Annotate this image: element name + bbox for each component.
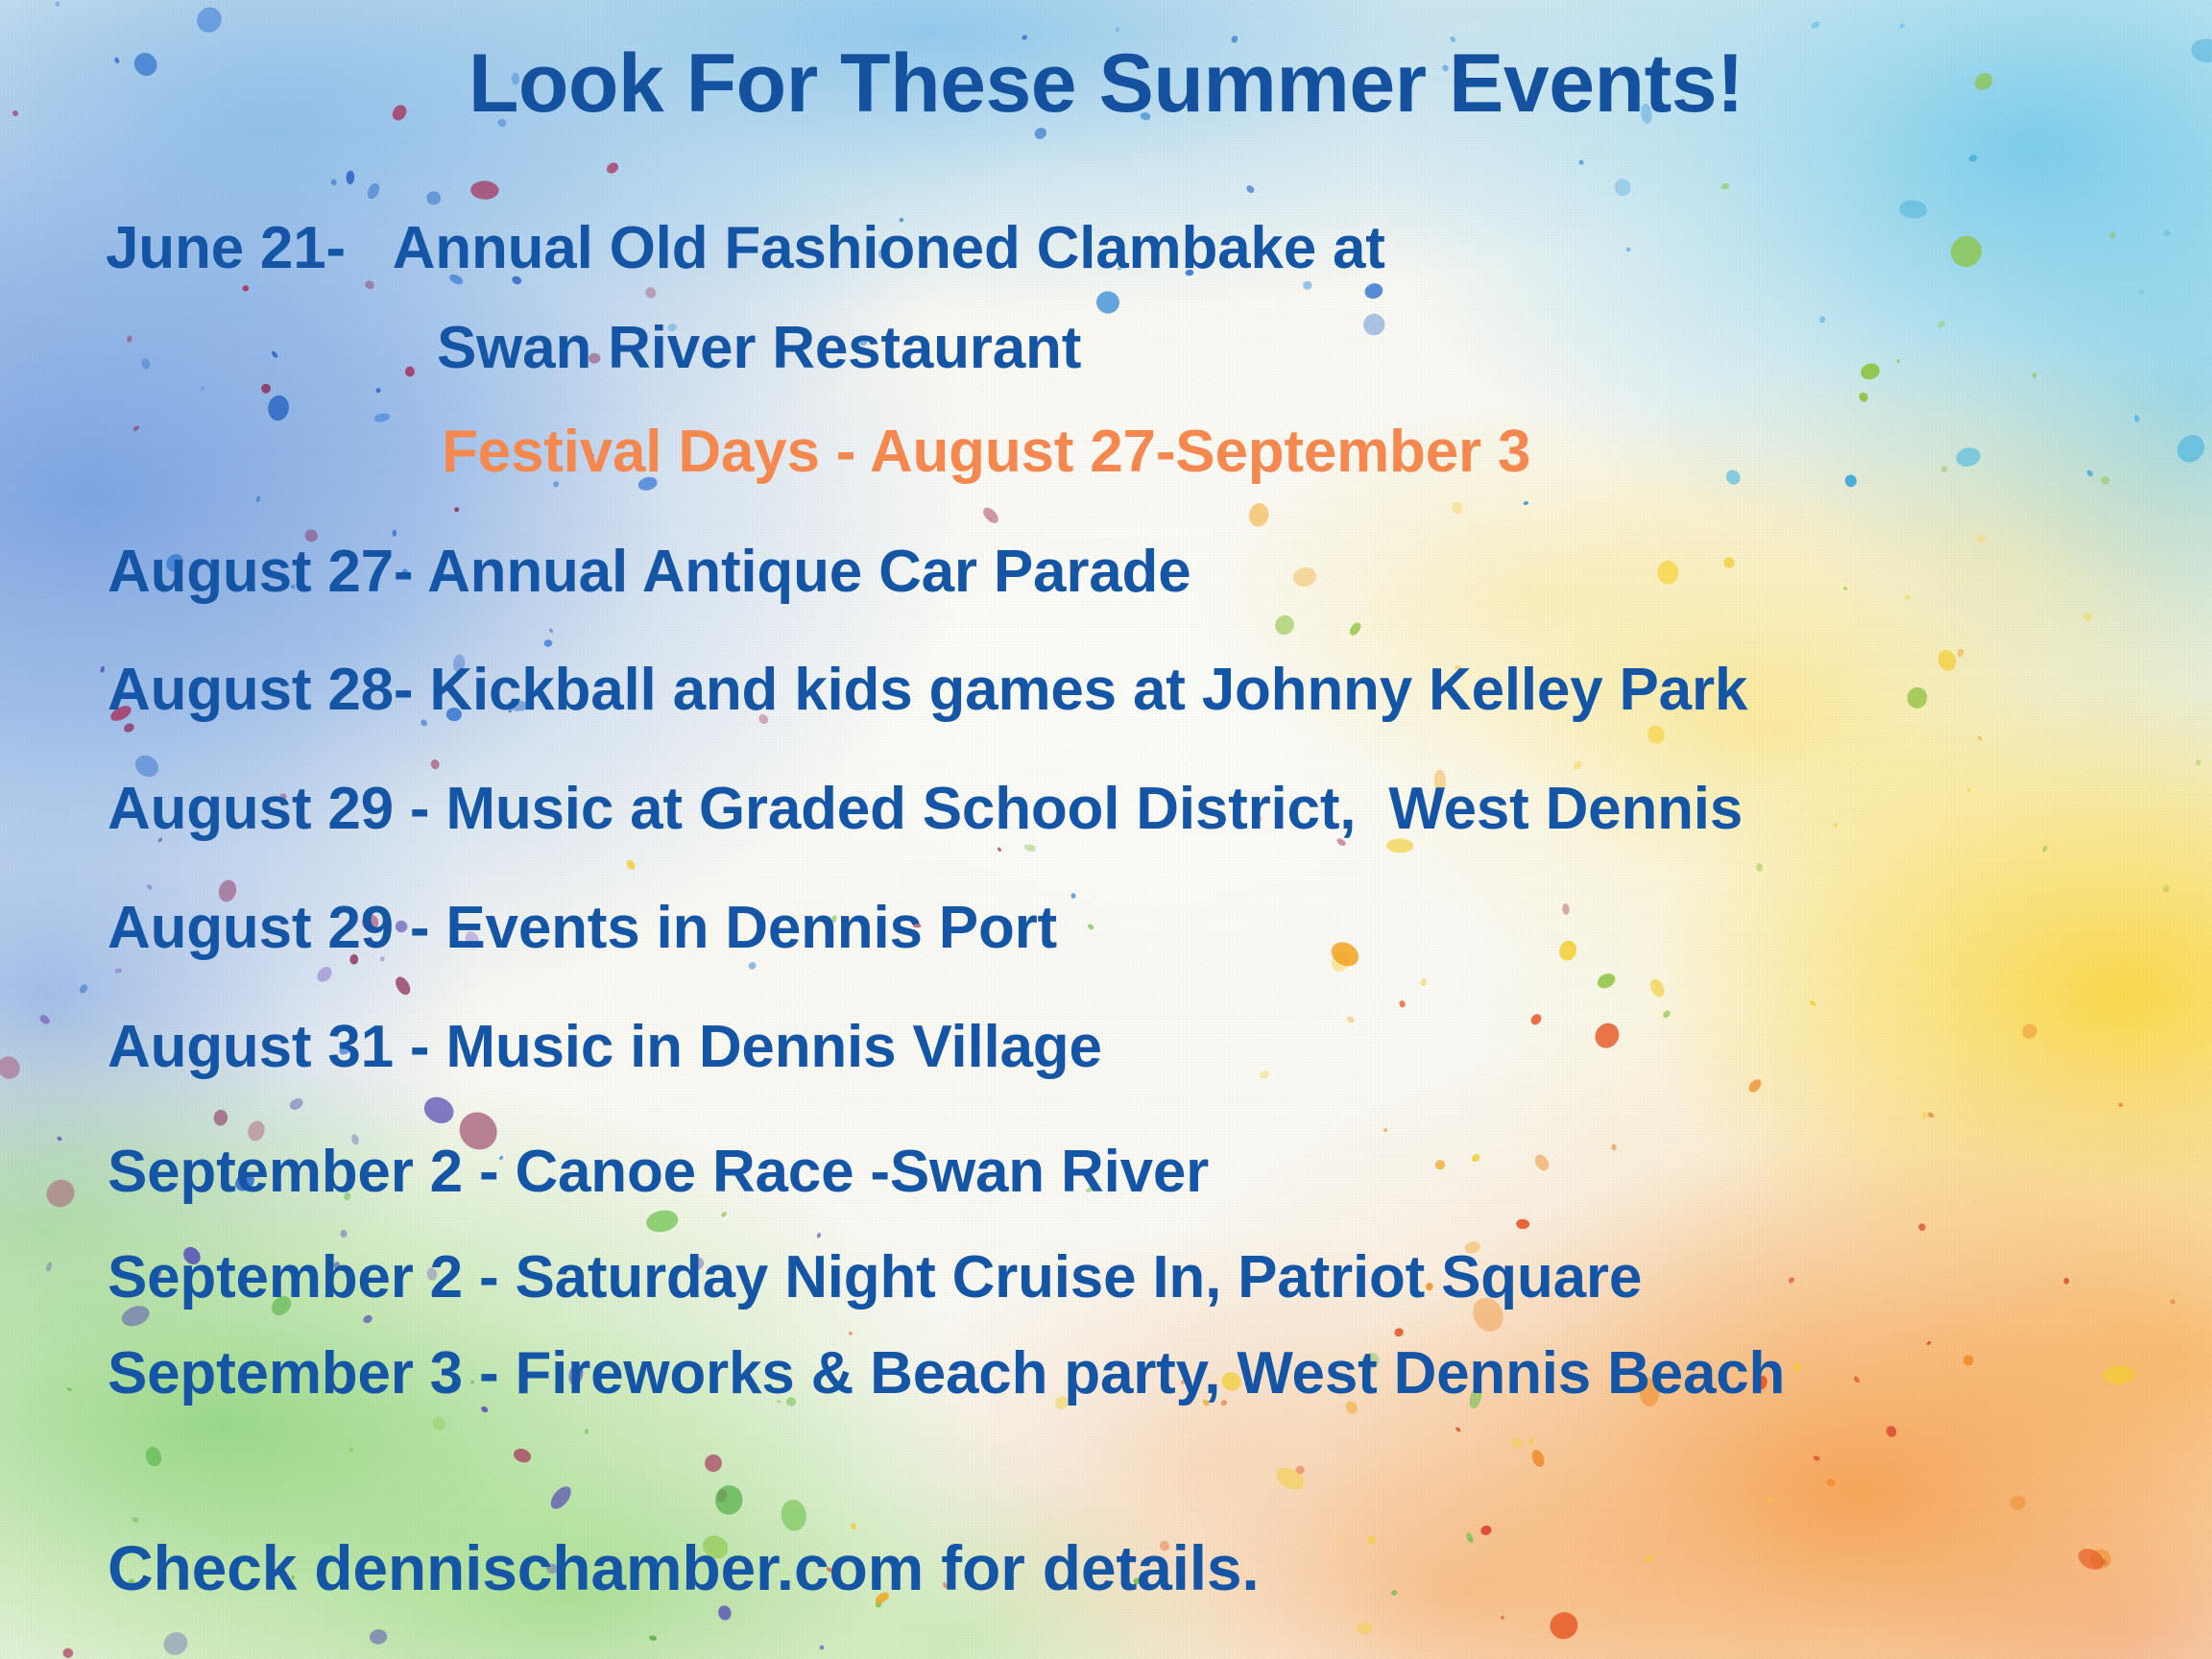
event-line-september-2-cruise: September 2 - Saturday Night Cruise In, … bbox=[108, 1248, 1642, 1308]
event-line-september-2-canoe: September 2 - Canoe Race -Swan River bbox=[108, 1142, 1209, 1202]
event-line-swan-river: Swan River Restaurant bbox=[437, 319, 1081, 378]
event-line-september-3: September 3 - Fireworks & Beach party, W… bbox=[108, 1344, 1785, 1404]
event-line-festival-days: Festival Days - August 27-September 3 bbox=[442, 422, 1530, 482]
event-line-august-28: August 28- Kickball and kids games at Jo… bbox=[108, 661, 1747, 720]
event-line-august-29-dennis-port: August 29 - Events in Dennis Port bbox=[108, 899, 1057, 958]
page-title: Look For These Summer Events! bbox=[0, 42, 2212, 125]
footer-website-note: Check dennischamber.com for details. bbox=[108, 1536, 1260, 1599]
event-line-august-31: August 31 - Music in Dennis Village bbox=[108, 1018, 1102, 1077]
summer-events-poster: Look For These Summer Events! June 21- A… bbox=[0, 0, 2212, 1659]
event-line-august-27: August 27- Annual Antique Car Parade bbox=[108, 542, 1190, 602]
poster-content: Look For These Summer Events! June 21- A… bbox=[0, 0, 2212, 1659]
event-line-august-29-music: August 29 - Music at Graded School Distr… bbox=[108, 780, 1743, 839]
event-line-june-21: June 21- Annual Old Fashioned Clambake a… bbox=[106, 219, 1385, 278]
